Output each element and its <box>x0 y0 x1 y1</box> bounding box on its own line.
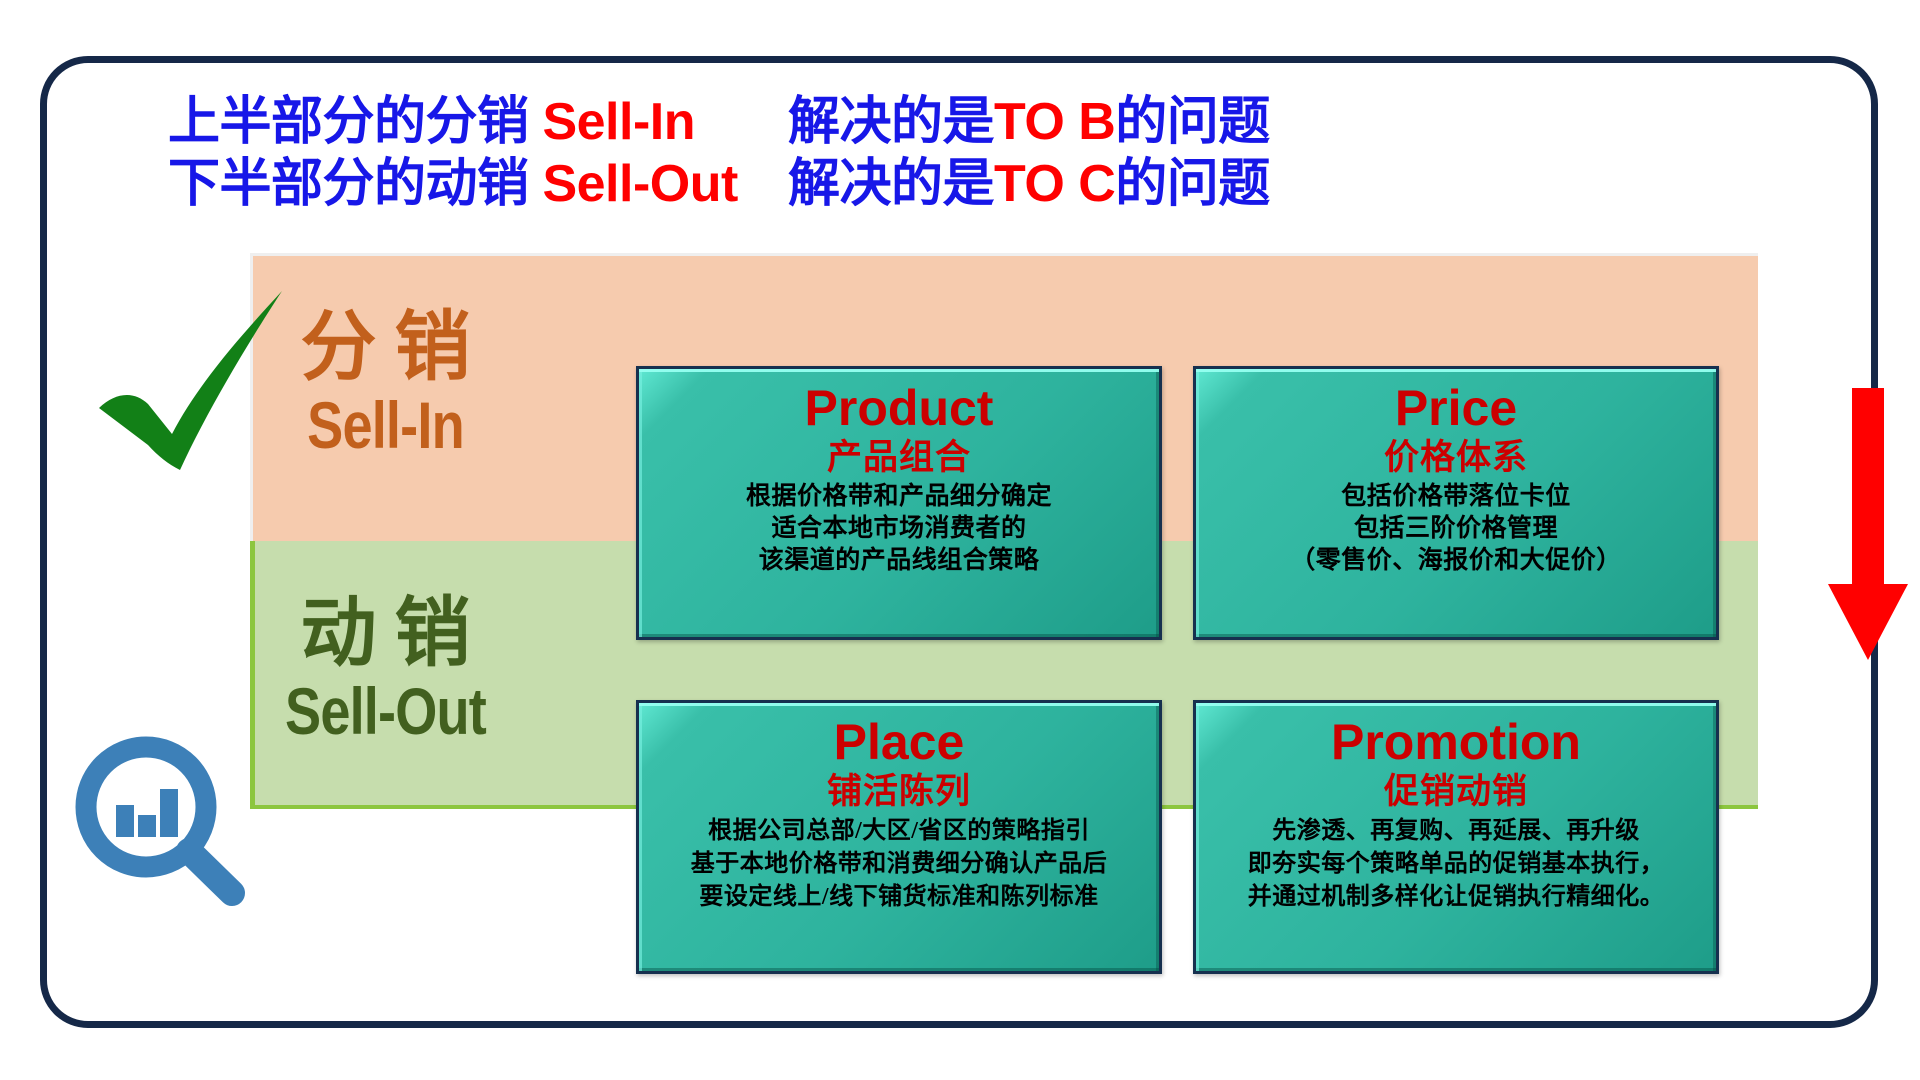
headline-line-1-cn-mid: 解决的是 <box>788 93 994 151</box>
box-place-desc-line-2: 基于本地价格带和消费细分确认产品后 <box>639 848 1159 881</box>
headline-line-1-right: 解决的是TO B的问题 <box>788 92 1270 152</box>
box-place-description: 根据公司总部/大区/省区的策略指引 基于本地价格带和消费细分确认产品后 要设定线… <box>639 815 1159 914</box>
box-price-desc-line-3: （零售价、海报价和大促价） <box>1196 545 1716 577</box>
headline-line-2-en-target: TO C <box>994 155 1115 213</box>
box-product-description: 根据价格带和产品细分确定 适合本地市场消费者的 该渠道的产品线组合策略 <box>639 481 1159 577</box>
box-place-cn-title: 铺活陈列 <box>639 771 1159 813</box>
box-promotion-desc-line-2: 即夯实每个策略单品的促销基本执行， <box>1196 848 1716 881</box>
box-promotion-description: 先渗透、再复购、再延展、再升级 即夯实每个策略单品的促销基本执行， 并通过机制多… <box>1196 815 1716 914</box>
box-product-en-title: Product <box>639 379 1159 437</box>
box-product-desc-line-3: 该渠道的产品线组合策略 <box>639 545 1159 577</box>
box-place-en-title: Place <box>639 713 1159 771</box>
sell-in-label-cjk: 分销 <box>258 310 513 386</box>
marketing-box-place[interactable]: Place 铺活陈列 根据公司总部/大区/省区的策略指引 基于本地价格带和消费细… <box>636 700 1162 974</box>
check-icon <box>96 288 286 473</box>
headline-line-2-left: 下半部分的动销 Sell-Out <box>168 154 788 214</box>
box-price-description: 包括价格带落位卡位 包括三阶价格管理 （零售价、海报价和大促价） <box>1196 481 1716 577</box>
marketing-box-product[interactable]: Product 产品组合 根据价格带和产品细分确定 适合本地市场消费者的 该渠道… <box>636 366 1162 640</box>
sell-out-label: 动销 Sell-Out <box>258 596 513 744</box>
sell-out-label-cjk: 动销 <box>258 596 513 672</box>
headline-line-2-cn-prefix: 下半部分的动销 <box>168 155 542 213</box>
marketing-box-price[interactable]: Price 价格体系 包括价格带落位卡位 包括三阶价格管理 （零售价、海报价和大… <box>1193 366 1719 640</box>
box-promotion-en-title: Promotion <box>1196 713 1716 771</box>
sell-out-label-latin: Sell-Out <box>281 678 490 744</box>
headline-line-1-en-term: Sell-In <box>542 93 695 151</box>
headline-line-1-left: 上半部分的分销 Sell-In <box>168 92 788 152</box>
down-arrow-icon <box>1826 388 1910 663</box>
headline-line-1-cn-prefix: 上半部分的分销 <box>168 93 542 151</box>
box-place-desc-line-3: 要设定线上/线下铺货标准和陈列标准 <box>639 881 1159 914</box>
headline-line-2-cn-mid: 解决的是 <box>788 155 994 213</box>
headline-block: 上半部分的分销 Sell-In解决的是TO B的问题 下半部分的动销 Sell-… <box>168 92 1788 216</box>
box-price-cn-title: 价格体系 <box>1196 437 1716 479</box>
box-product-cn-title: 产品组合 <box>639 437 1159 479</box>
headline-line-2-en-term: Sell-Out <box>542 155 737 213</box>
sell-in-label: 分销 Sell-In <box>258 310 513 458</box>
box-price-en-title: Price <box>1196 379 1716 437</box>
box-price-desc-line-2: 包括三阶价格管理 <box>1196 513 1716 545</box>
marketing-box-promotion[interactable]: Promotion 促销动销 先渗透、再复购、再延展、再升级 即夯实每个策略单品… <box>1193 700 1719 974</box>
headline-line-1-cn-suffix: 的问题 <box>1115 93 1270 151</box>
magnifier-chart-icon <box>72 735 252 915</box>
slide-canvas: 上半部分的分销 Sell-In解决的是TO B的问题 下半部分的动销 Sell-… <box>0 0 1920 1080</box>
box-price-desc-line-1: 包括价格带落位卡位 <box>1196 481 1716 513</box>
sell-in-label-latin: Sell-In <box>281 392 490 458</box>
headline-line-1-en-target: TO B <box>994 93 1115 151</box>
headline-line-1: 上半部分的分销 Sell-In解决的是TO B的问题 <box>168 92 1788 154</box>
headline-line-2: 下半部分的动销 Sell-Out解决的是TO C的问题 <box>168 154 1788 216</box>
headline-line-2-right: 解决的是TO C的问题 <box>788 154 1270 214</box>
box-promotion-desc-line-1: 先渗透、再复购、再延展、再升级 <box>1196 815 1716 848</box>
box-place-desc-line-1: 根据公司总部/大区/省区的策略指引 <box>639 815 1159 848</box>
headline-line-2-cn-suffix: 的问题 <box>1115 155 1270 213</box>
box-product-desc-line-2: 适合本地市场消费者的 <box>639 513 1159 545</box>
box-promotion-desc-line-3: 并通过机制多样化让促销执行精细化。 <box>1196 881 1716 914</box>
box-product-desc-line-1: 根据价格带和产品细分确定 <box>639 481 1159 513</box>
box-promotion-cn-title: 促销动销 <box>1196 771 1716 813</box>
